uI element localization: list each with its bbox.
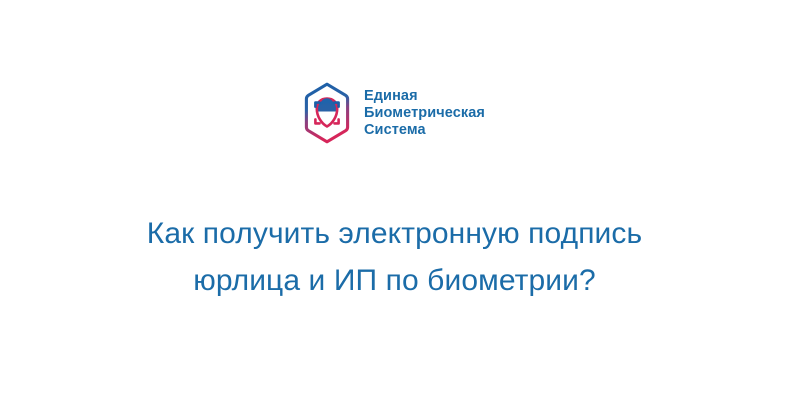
- page-title-line-2: юрлица и ИП по биометрии?: [0, 257, 789, 304]
- brand-lockup: Единая Биометрическая Система: [0, 82, 789, 144]
- page-title-line-1: Как получить электронную подпись: [0, 210, 789, 257]
- brand-wordmark: Единая Биометрическая Система: [364, 88, 485, 139]
- brand-wordmark-line-3: Система: [364, 122, 485, 139]
- brand-wordmark-line-1: Единая: [364, 88, 485, 105]
- page-title: Как получить электронную подпись юрлица …: [0, 210, 789, 304]
- biometric-face-hexagon-logo-icon: [304, 82, 350, 144]
- brand-wordmark-line-2: Биометрическая: [364, 105, 485, 122]
- poster-canvas: Единая Биометрическая Система Как получи…: [0, 0, 789, 403]
